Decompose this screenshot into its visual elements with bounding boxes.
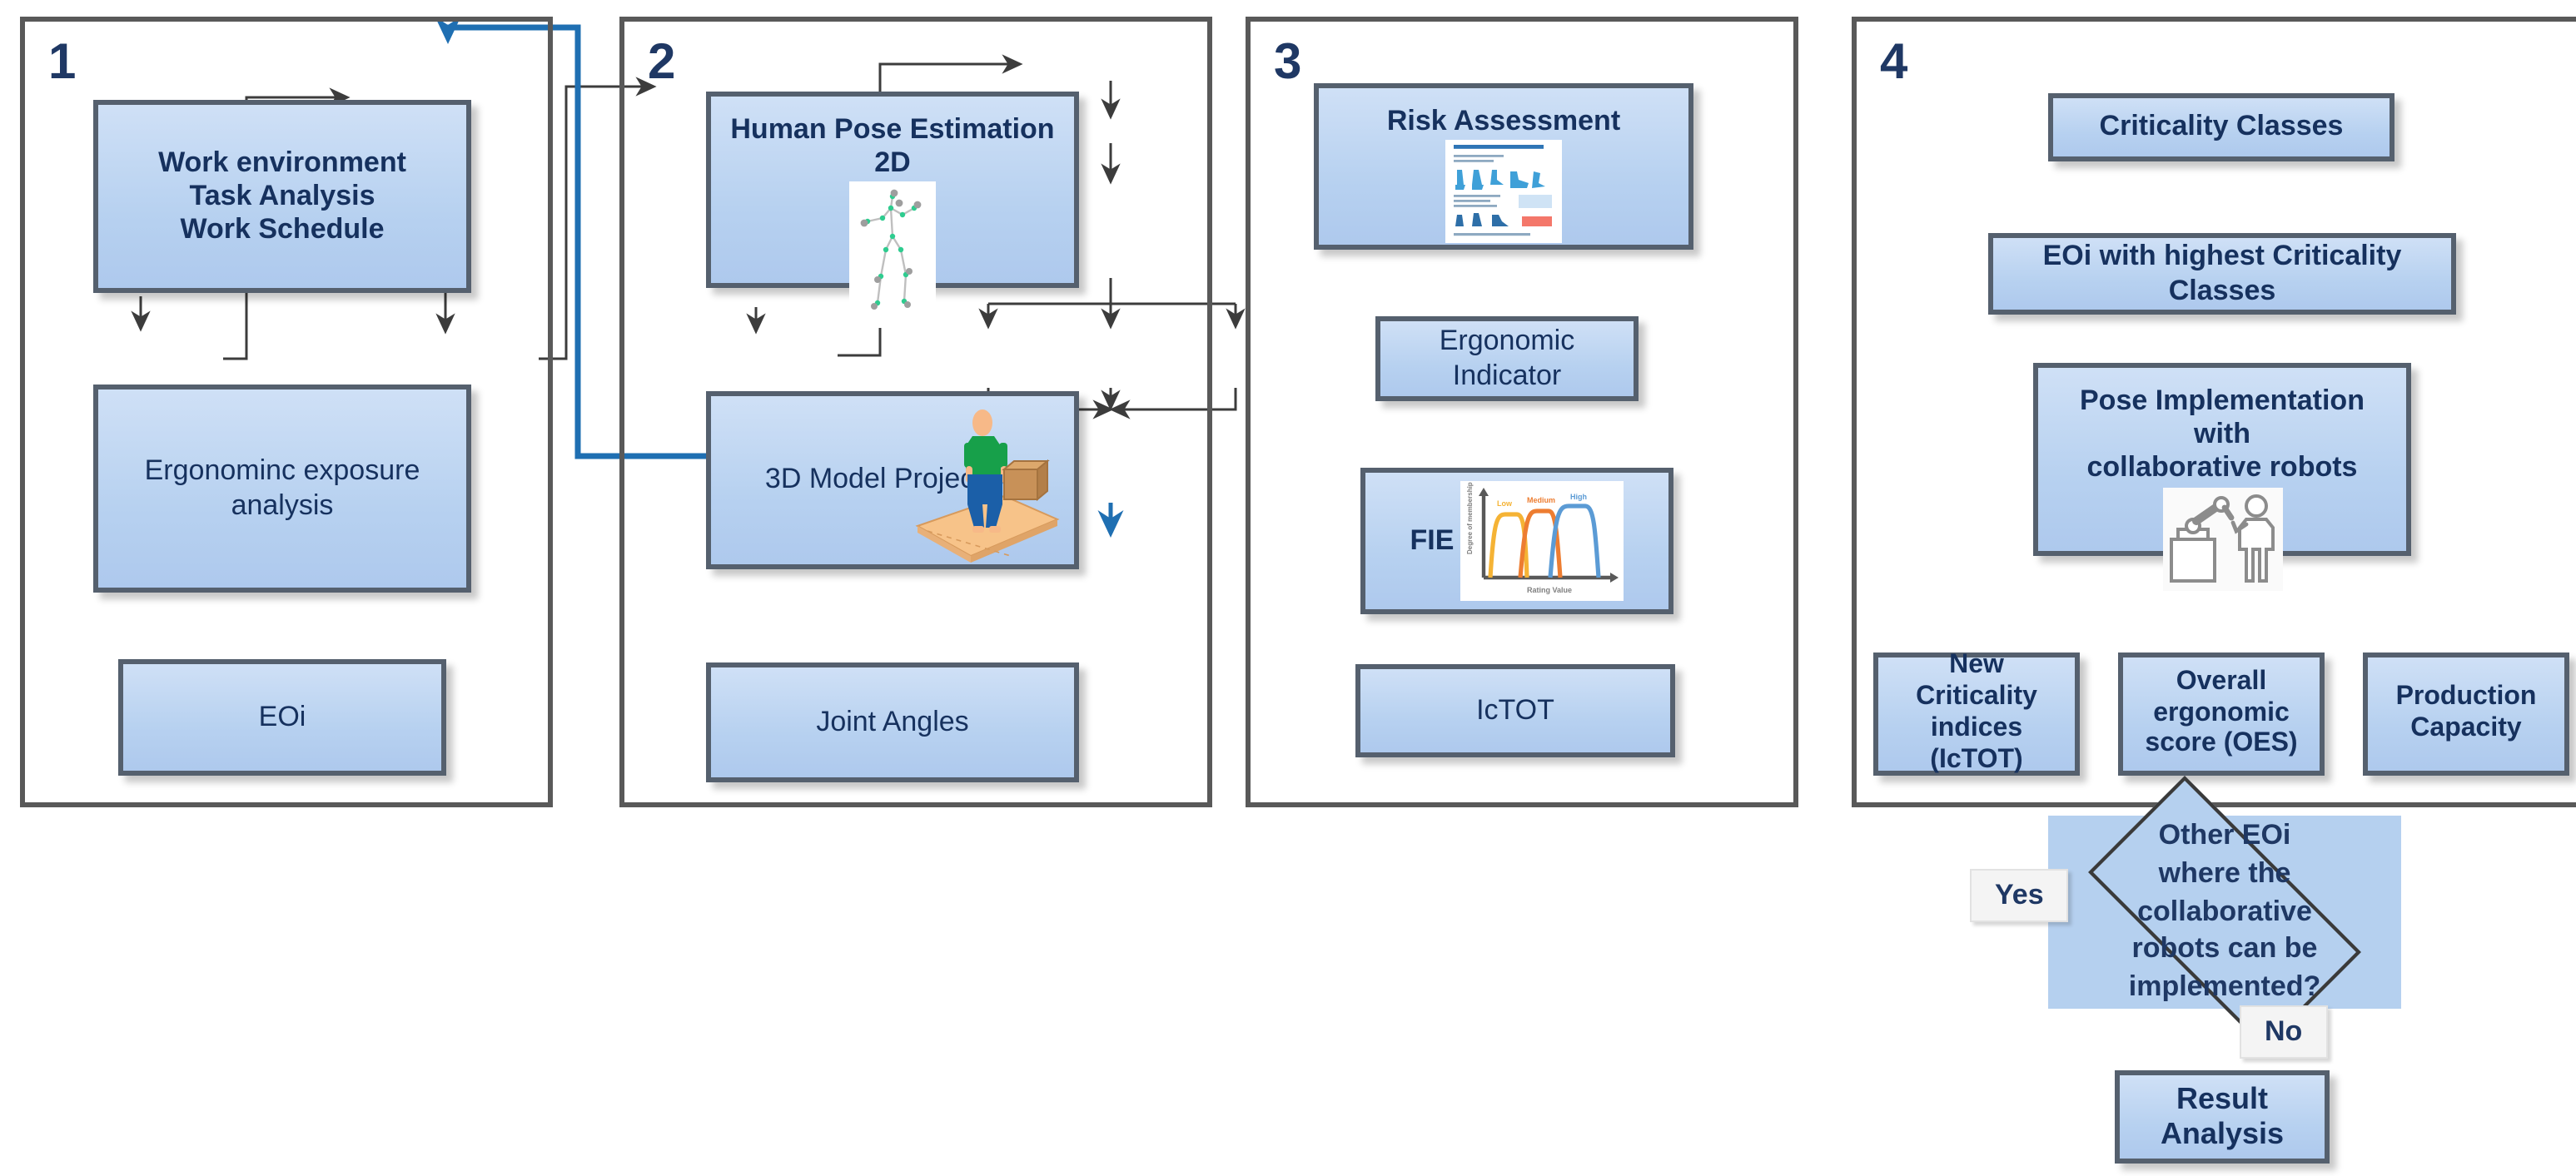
robot-arm-and-human-icon xyxy=(2162,488,2282,591)
reba-assessment-worksheet-image xyxy=(1445,140,1562,243)
node-fie[interactable]: FIE Degree of membership Rating Value Lo… xyxy=(1360,468,1673,614)
edge-label-yes: Yes xyxy=(1970,869,2069,922)
node-eoi[interactable]: EOi xyxy=(118,659,446,776)
node-ergonomic-exposure-label: Ergonominc exposure analysis xyxy=(112,455,453,522)
node-ergonomic-exposure[interactable]: Ergonominc exposure analysis xyxy=(93,385,471,593)
node-pose-implementation[interactable]: Pose Implementation with collaborative r… xyxy=(2033,363,2411,556)
decision-diamond-label: Other EOi where the collaborative robots… xyxy=(2048,816,2401,1009)
node-new-criticality-indices-label: New Criticality indices (IcTOT) xyxy=(1892,652,2061,777)
node-fie-label: FIE xyxy=(1410,524,1455,558)
group-number-2: 2 xyxy=(648,35,675,92)
group-number-3: 3 xyxy=(1274,35,1301,92)
skeleton-keypoints-image xyxy=(849,181,936,328)
flowchart-canvas: 1 Work environment Task Analysis Work Sc… xyxy=(0,0,2576,1176)
node-3d-model-projection[interactable]: 3D Model Projection xyxy=(706,391,1079,569)
worker-lifting-box-3d-image xyxy=(908,403,1067,568)
svg-text:Medium: Medium xyxy=(1527,496,1555,504)
decision-diamond[interactable]: Other EOi where the collaborative robots… xyxy=(2048,816,2401,1009)
node-result-analysis-label: Result Analysis xyxy=(2133,1082,2311,1153)
node-eoi-highest-criticality[interactable]: EOi with highest Criticality Classes xyxy=(1988,233,2456,315)
node-production-capacity-label: Production Capacity xyxy=(2381,682,2551,746)
svg-text:High: High xyxy=(1570,493,1587,501)
node-joint-angles[interactable]: Joint Angles xyxy=(706,662,1079,782)
node-new-criticality-indices[interactable]: New Criticality indices (IcTOT) xyxy=(1873,653,2080,776)
node-pose-implementation-label: Pose Implementation with collaborative r… xyxy=(2051,385,2393,484)
node-ergonomic-indicator-label: Ergonomic Indicator xyxy=(1394,325,1620,392)
node-overall-ergonomic-score-label: Overall ergonomic score (OES) xyxy=(2136,667,2306,761)
node-production-capacity[interactable]: Production Capacity xyxy=(2363,653,2569,776)
node-overall-ergonomic-score[interactable]: Overall ergonomic score (OES) xyxy=(2118,653,2325,776)
edge-label-no-text: No xyxy=(2265,1015,2302,1047)
node-joint-angles-label: Joint Angles xyxy=(724,706,1061,739)
svg-text:Degree of membership: Degree of membership xyxy=(1466,482,1474,554)
node-work-environment-label: Work environment Task Analysis Work Sche… xyxy=(112,146,453,246)
group-number-4: 4 xyxy=(1880,35,1907,92)
group-number-1: 1 xyxy=(48,35,76,92)
node-risk-assessment-label: Risk Assessment xyxy=(1332,105,1675,138)
fuzzy-membership-chart-image: Degree of membership Rating Value Low Me… xyxy=(1460,481,1624,601)
node-criticality-classes-label: Criticality Classes xyxy=(2066,111,2376,144)
node-ergonomic-indicator[interactable]: Ergonomic Indicator xyxy=(1375,316,1639,401)
node-eoi-label: EOi xyxy=(137,701,428,734)
node-criticality-classes[interactable]: Criticality Classes xyxy=(2048,93,2394,161)
svg-text:Rating Value: Rating Value xyxy=(1527,586,1572,594)
node-human-pose-estimation[interactable]: Human Pose Estimation 2D xyxy=(706,92,1079,288)
edge-label-yes-text: Yes xyxy=(1995,879,2044,911)
node-work-environment[interactable]: Work environment Task Analysis Work Sche… xyxy=(93,100,471,293)
node-risk-assessment[interactable]: Risk Assessment xyxy=(1314,83,1693,250)
node-ictot[interactable]: IcTOT xyxy=(1355,664,1675,757)
node-eoi-highest-criticality-label: EOi with highest Criticality Classes xyxy=(2007,241,2438,307)
node-human-pose-estimation-label: Human Pose Estimation 2D xyxy=(724,113,1061,180)
edge-label-no: No xyxy=(2240,1005,2327,1059)
node-result-analysis[interactable]: Result Analysis xyxy=(2115,1070,2330,1164)
node-ictot-label: IcTOT xyxy=(1374,694,1657,727)
svg-text:Low: Low xyxy=(1497,499,1513,508)
